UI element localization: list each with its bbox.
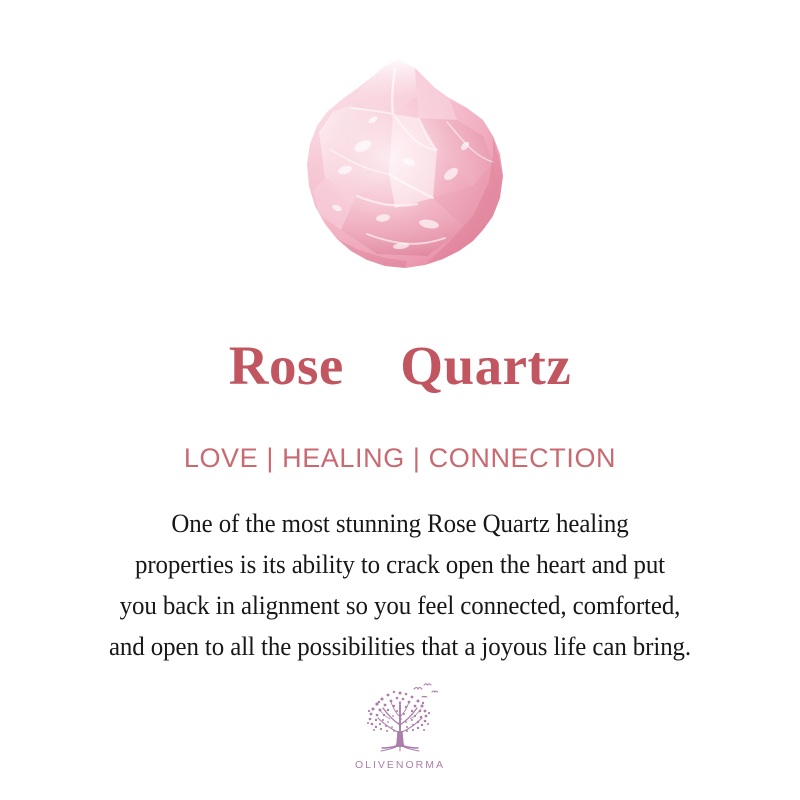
description-line: and open to all the possibilities that a…: [24, 626, 776, 667]
page-title: Rose Quartz: [0, 337, 800, 395]
brand-logo: OLIVENORMA: [0, 681, 800, 771]
rose-quartz-crystal-image: [297, 58, 513, 278]
brand-wordmark: OLIVENORMA: [355, 759, 445, 771]
description-line: One of the most stunning Rose Quartz hea…: [24, 503, 776, 544]
rose-quartz-info-card: Rose Quartz LOVE | HEALING | CONNECTION …: [0, 0, 800, 800]
keyword-tagline: LOVE | HEALING | CONNECTION: [0, 443, 800, 474]
tree-of-life-icon: [354, 681, 446, 757]
description-line: you back in alignment so you feel connec…: [24, 585, 776, 626]
crystal-inner-glow: [297, 58, 513, 278]
tree-birds: [414, 684, 438, 697]
tree-canopy: [367, 691, 430, 732]
description-text: One of the most stunning Rose Quartz hea…: [0, 503, 800, 667]
description-line: properties is its ability to crack open …: [24, 544, 776, 585]
